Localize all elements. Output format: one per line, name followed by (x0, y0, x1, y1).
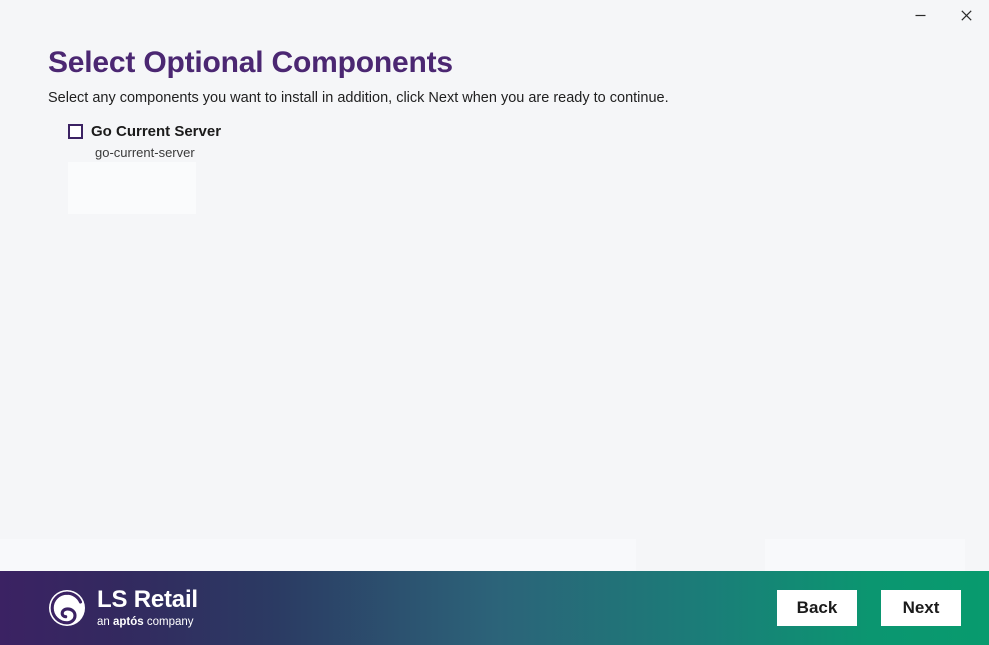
background-band-right (765, 539, 965, 571)
background-band-left (0, 539, 636, 571)
brand-lockup: LS Retail an aptós company (48, 588, 198, 629)
component-row[interactable]: Go Current Server (68, 120, 888, 142)
minimize-icon (915, 10, 926, 21)
optional-components-list: Go Current Server go-current-server (68, 120, 888, 160)
component-item-go-current-server[interactable]: Go Current Server go-current-server (68, 120, 888, 160)
tagline-prefix: an (97, 616, 113, 628)
brand-tagline: an aptós company (97, 617, 198, 629)
wizard-content: Select Optional Components Select any co… (0, 32, 989, 571)
component-identifier: go-current-server (95, 145, 888, 160)
tagline-aptos: aptós (113, 616, 144, 628)
component-label: Go Current Server (91, 123, 221, 140)
next-button[interactable]: Next (881, 590, 961, 626)
window-titlebar (0, 0, 989, 32)
tagline-suffix: company (144, 616, 194, 628)
wizard-footer: LS Retail an aptós company Back Next (0, 571, 989, 645)
component-detail-panel (68, 162, 196, 214)
page-title: Select Optional Components (48, 46, 453, 80)
close-icon (961, 10, 972, 21)
brand-name: LS Retail (97, 588, 198, 612)
back-button[interactable]: Back (777, 590, 857, 626)
brand-text: LS Retail an aptós company (97, 588, 198, 629)
footer-actions: Back Next (777, 590, 961, 626)
close-button[interactable] (943, 0, 989, 30)
page-subtitle: Select any components you want to instal… (48, 90, 669, 106)
minimize-button[interactable] (897, 0, 943, 30)
ls-retail-logo-icon (48, 589, 86, 627)
component-checkbox-go-current-server[interactable] (68, 124, 83, 139)
